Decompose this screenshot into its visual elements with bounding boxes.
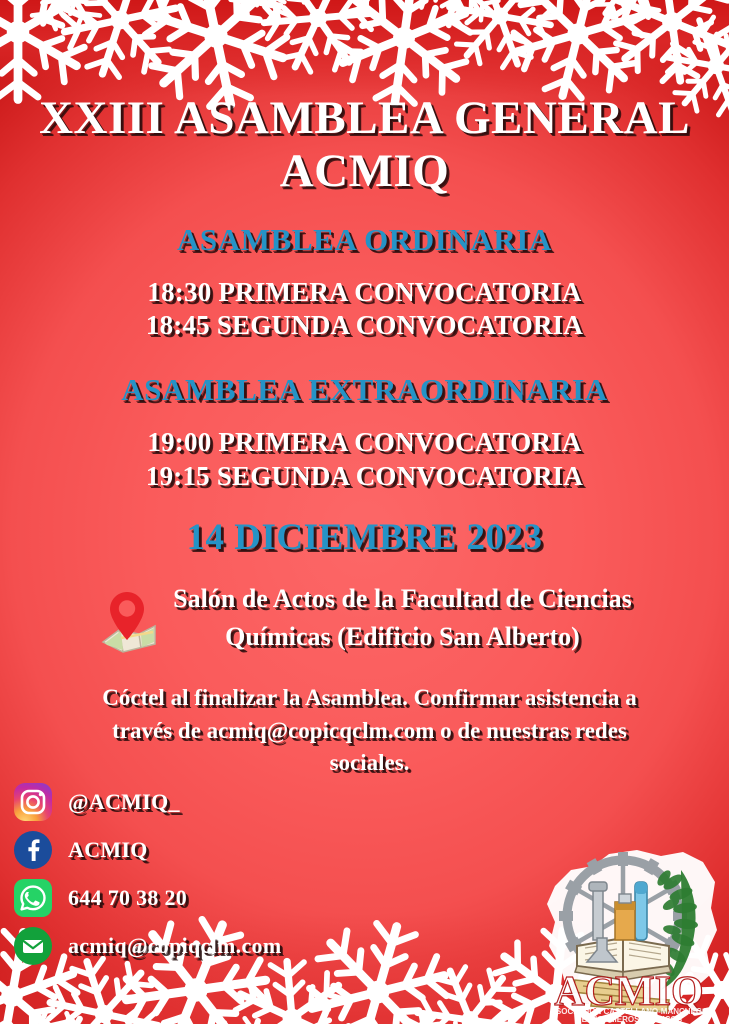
logo-subtitle-line-2: DE INGENIEROS QUÍMICOS	[576, 1015, 683, 1024]
contact-item-facebook[interactable]: ACMIQ	[14, 830, 281, 870]
ordinary-second-call: 18:45 SEGUNDA CONVOCATORIA	[0, 310, 729, 341]
instagram-icon[interactable]	[14, 783, 52, 821]
title-line-1: XXIII ASAMBLEA GENERAL	[39, 92, 690, 144]
extraordinary-second-call: 19:15 SEGUNDA CONVOCATORIA	[0, 461, 729, 492]
extraordinary-first-call: 19:00 PRIMERA CONVOCATORIA	[0, 427, 729, 458]
location-block: Salón de Actos de la Facultad de Ciencia…	[0, 580, 729, 656]
map-pin-icon	[97, 586, 161, 656]
event-date: 14 DICIEMBRE 2023	[0, 516, 729, 559]
contact-label-instagram: @ACMIQ_	[68, 789, 180, 815]
contact-list: @ACMIQ_ ACMIQ	[14, 782, 281, 966]
location-text: Salón de Actos de la Facultad de Ciencia…	[173, 580, 632, 655]
contact-item-email[interactable]: acmiq@copiqclm.com	[14, 926, 281, 966]
contact-item-whatsapp[interactable]: 644 70 38 20	[14, 878, 281, 918]
location-line-1: Salón de Actos de la Facultad de Ciencia…	[173, 580, 632, 618]
ordinary-first-call: 18:30 PRIMERA CONVOCATORIA	[0, 277, 729, 308]
title-line-2: ACMIQ	[0, 145, 729, 198]
email-icon[interactable]	[14, 927, 52, 965]
location-line-2: Químicas (Edificio San Alberto)	[173, 618, 632, 656]
contact-label-facebook: ACMIQ	[68, 837, 148, 863]
page-title: XXIII ASAMBLEA GENERAL ACMIQ	[0, 92, 729, 197]
extraordinary-assembly-heading: ASAMBLEA EXTRAORDINARIA	[0, 372, 729, 408]
contact-label-whatsapp: 644 70 38 20	[68, 885, 187, 911]
ordinary-assembly-heading: ASAMBLEA ORDINARIA	[0, 222, 729, 258]
whatsapp-icon[interactable]	[14, 879, 52, 917]
facebook-icon[interactable]	[14, 831, 52, 869]
poster-canvas: XXIII ASAMBLEA GENERAL ACMIQ ASAMBLEA OR…	[0, 0, 729, 1024]
acmiq-logo: ACMIQ ASOCIACIÓN CASTELLANO-MANCHEGA DE …	[531, 842, 727, 1024]
contact-item-instagram[interactable]: @ACMIQ_	[14, 782, 281, 822]
rsvp-note: Cóctel al finalizar la Asamblea. Confirm…	[70, 682, 669, 780]
contact-label-email: acmiq@copiqclm.com	[68, 933, 281, 959]
